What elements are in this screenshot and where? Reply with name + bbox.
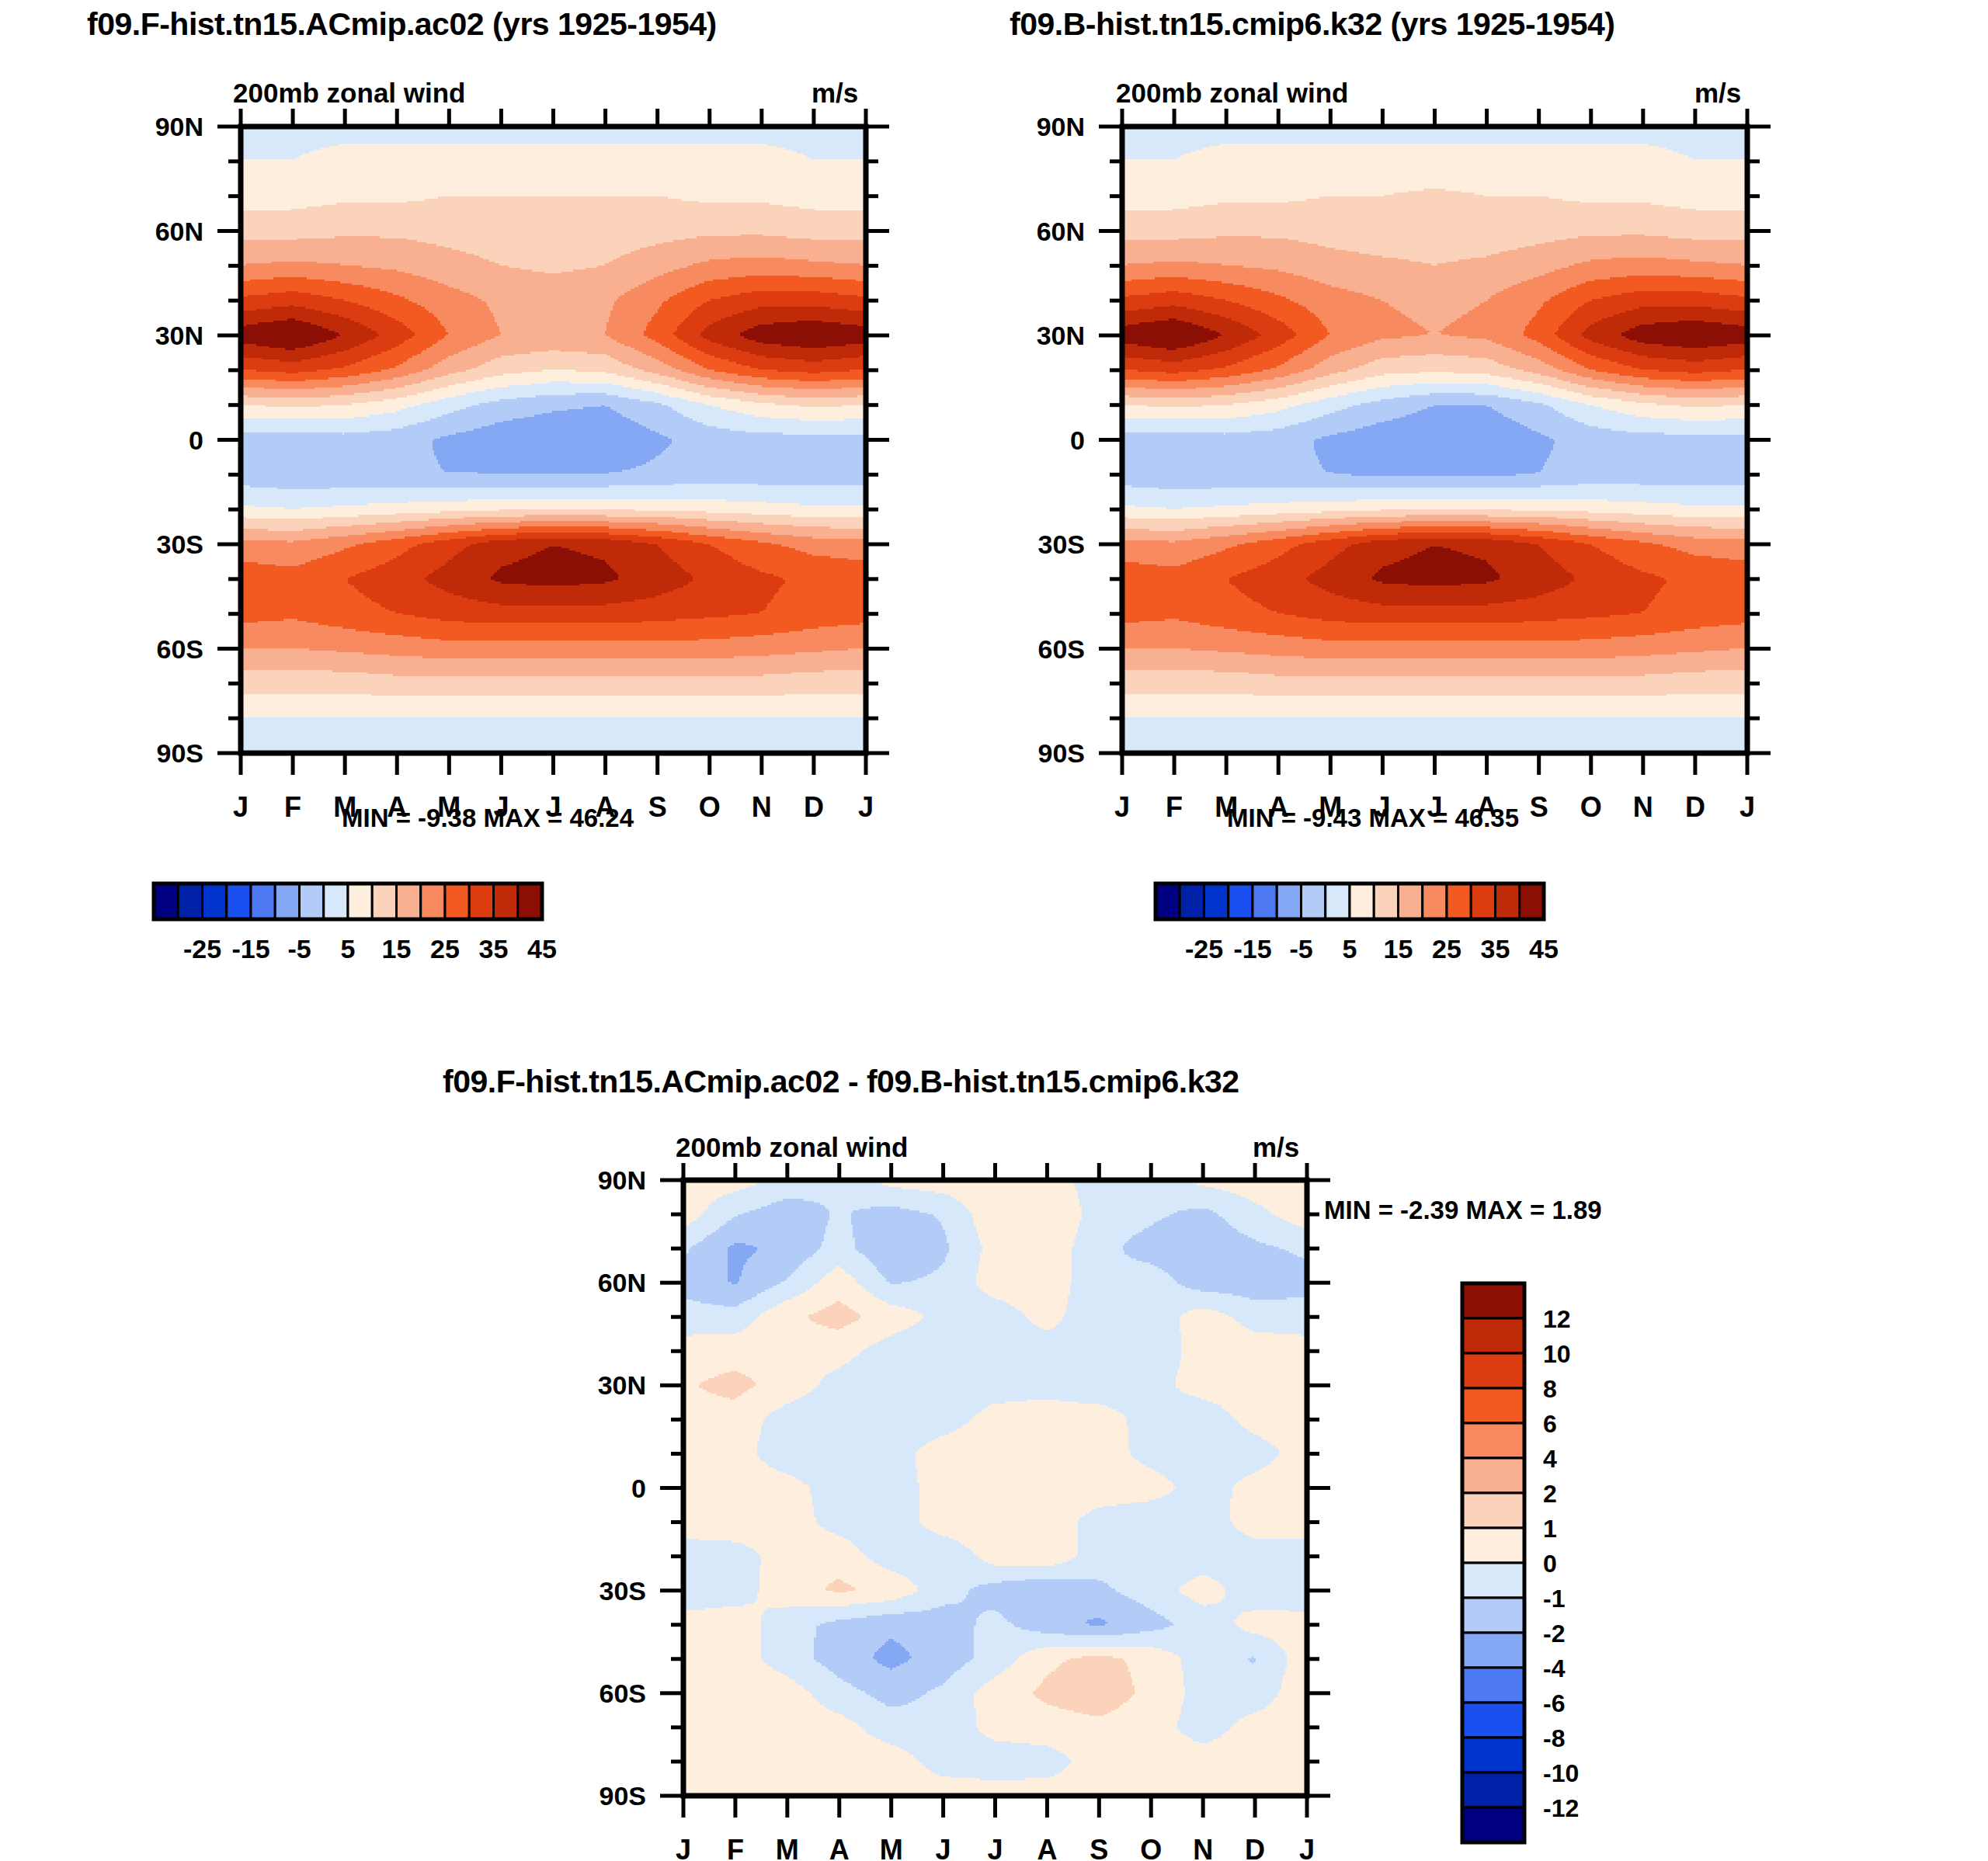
y-axis-label: 30N [155,321,203,350]
colorbar-cell[interactable] [1462,1563,1524,1598]
colorbar-tick-label: -2 [1543,1620,1565,1647]
colorbar-cell[interactable] [154,884,178,919]
y-axis-label: 30S [600,1576,647,1606]
colorbar-tick-label: 1 [1543,1515,1557,1543]
panel-right-plot: 90N60N30N030S60S90SJFMAMJJASONDJ [881,109,1782,885]
x-axis-label: J [858,791,874,823]
colorbar-cell[interactable] [1374,884,1398,919]
colorbar-tick-label: 8 [1543,1375,1557,1403]
x-axis-label: D [1685,791,1705,823]
colorbar-tick-label: 15 [382,934,412,963]
colorbar-cell[interactable] [518,884,542,919]
x-axis-label: J [1114,791,1130,823]
colorbar-cell[interactable] [300,884,324,919]
colorbar-cell[interactable] [397,884,421,919]
colorbar-cell[interactable] [1520,884,1544,919]
x-axis-label: A [1037,1834,1057,1861]
colorbar-cell[interactable] [203,884,227,919]
y-axis-label: 30S [1038,529,1086,559]
x-axis-label: O [1580,791,1602,823]
colorbar-cell[interactable] [1462,1423,1524,1458]
colorbar-cell[interactable] [1462,1388,1524,1423]
colorbar-cell[interactable] [494,884,518,919]
colorbar-cell[interactable] [227,884,251,919]
colorbar-cell[interactable] [1462,1493,1524,1528]
panel-difference-minmax: MIN = -2.39 MAX = 1.89 [1324,1196,1602,1225]
colorbar-cell[interactable] [1447,884,1471,919]
y-axis-label: 30N [1037,321,1085,350]
y-axis-label: 60S [1038,634,1086,664]
colorbar-tick-label: -8 [1543,1724,1565,1752]
colorbar-tick-label: -10 [1543,1759,1579,1787]
colorbar-cell[interactable] [178,884,202,919]
colorbar-cell[interactable] [445,884,469,919]
colorbar-cell[interactable] [324,884,348,919]
colorbar-cell[interactable] [1350,884,1374,919]
colorbar-cell[interactable] [1302,884,1326,919]
colorbar-cell[interactable] [1462,1598,1524,1633]
colorbar-tick-label: 4 [1543,1445,1557,1473]
x-axis-label: J [987,1834,1003,1861]
colorbar-cell[interactable] [1471,884,1495,919]
colorbar-cell[interactable] [421,884,445,919]
x-axis-label: S [1090,1834,1108,1861]
colorbar-cell[interactable] [1462,1528,1524,1563]
panel-difference-title: f09.F-hist.tn15.ACmip.ac02 - f09.B-hist.… [443,1064,1239,1100]
colorbar-cell[interactable] [1253,884,1277,919]
panel-left-plot: 90N60N30N030S60S90SJFMAMJJASONDJ [0,109,901,885]
x-axis-label: N [752,791,772,823]
colorbar-cell[interactable] [251,884,275,919]
x-axis-label: O [1140,1834,1162,1861]
colorbar-tick-label: 6 [1543,1410,1557,1438]
y-axis-label: 30N [598,1370,646,1400]
colorbar-cell[interactable] [1462,1283,1524,1318]
y-axis-label: 90N [155,112,203,141]
y-axis-label: 90S [1038,738,1086,768]
colorbar-cell[interactable] [1326,884,1350,919]
colorbar-tick-label: 12 [1543,1305,1571,1333]
x-axis-label: M [776,1834,799,1861]
colorbar-tick-label: -1 [1543,1585,1565,1613]
colorbar-tick-label: -5 [287,934,311,963]
colorbar-cell[interactable] [1462,1703,1524,1738]
y-axis-label: 60S [157,634,204,664]
colorbar-cell[interactable] [1156,884,1180,919]
colorbar-cell[interactable] [372,884,396,919]
x-axis-label: N [1193,1834,1213,1861]
panel-left-units: m/s [812,78,858,109]
panel-left-title: f09.F-hist.tn15.ACmip.ac02 (yrs 1925-195… [87,6,717,43]
panel-left-colorbar[interactable]: -25-15-5515253545 [116,877,893,978]
y-axis-label: 90N [598,1165,646,1195]
colorbar-tick-label: 2 [1543,1480,1557,1508]
colorbar-tick-label: 5 [341,934,356,963]
colorbar-cell[interactable] [1462,1458,1524,1493]
panel-right-subtitle: 200mb zonal wind [1116,78,1349,109]
x-axis-label: J [1299,1834,1315,1861]
y-axis-label: 60S [600,1679,647,1708]
colorbar-cell[interactable] [275,884,299,919]
colorbar-tick-label: -12 [1543,1794,1579,1822]
x-axis-label: O [699,791,721,823]
colorbar-cell[interactable] [1462,1772,1524,1807]
colorbar-tick-label: 35 [1481,934,1510,963]
x-axis-label: F [727,1834,744,1861]
colorbar-tick-label: 10 [1543,1340,1571,1368]
panel-right-title: f09.B-hist.tn15.cmip6.k32 (yrs 1925-1954… [1010,6,1614,43]
panel-right-minmax: MIN = -9.43 MAX = 46.35 [1227,804,1519,833]
x-axis-label: D [804,791,824,823]
colorbar-cell[interactable] [1462,1318,1524,1353]
colorbar-cell[interactable] [1229,884,1253,919]
colorbar-tick-label: 25 [430,934,460,963]
x-axis-label: M [880,1834,903,1861]
colorbar-tick-label: -15 [231,934,269,963]
panel-left-subtitle: 200mb zonal wind [233,78,466,109]
colorbar-cell[interactable] [1462,1807,1524,1842]
colorbar-tick-label: 45 [1529,934,1559,963]
colorbar-cell[interactable] [1180,884,1204,919]
colorbar-tick-label: -6 [1543,1689,1565,1717]
y-axis-label: 60N [598,1268,646,1297]
colorbar-cell[interactable] [1277,884,1301,919]
y-axis-label: 0 [189,425,203,455]
x-axis-label: S [1530,791,1548,823]
x-axis-label: J [676,1834,691,1861]
colorbar-tick-label: 5 [1343,934,1357,963]
panel-left-minmax: MIN = -9.38 MAX = 46.24 [342,804,634,833]
x-axis-label: A [829,1834,850,1861]
x-axis-label: J [233,791,248,823]
colorbar-tick-label: -25 [1185,934,1223,963]
colorbar-cell[interactable] [1462,1353,1524,1388]
colorbar-cell[interactable] [1204,884,1229,919]
panel-difference-subtitle: 200mb zonal wind [676,1132,909,1163]
panel-difference-plot: 90N60N30N030S60S90SJFMAMJJASONDJ [443,1163,1351,1861]
colorbar-tick-label: -15 [1233,934,1271,963]
colorbar-cell[interactable] [469,884,493,919]
colorbar-cell[interactable] [1496,884,1520,919]
colorbar-tick-label: 35 [479,934,509,963]
colorbar-tick-label: -5 [1289,934,1312,963]
panel-right-colorbar[interactable]: -25-15-5515253545 [1118,877,1895,978]
y-axis-label: 60N [155,217,203,246]
colorbar-cell[interactable] [1399,884,1423,919]
y-axis-label: 0 [1070,425,1085,455]
colorbar-cell[interactable] [1462,1668,1524,1703]
x-axis-label: N [1633,791,1653,823]
y-axis-label: 60N [1037,217,1085,246]
y-axis-label: 90N [1037,112,1085,141]
x-axis-label: J [936,1834,951,1861]
colorbar-tick-label: -25 [183,934,221,963]
colorbar-cell[interactable] [1462,1633,1524,1668]
x-axis-label: F [284,791,301,823]
panel-right-units: m/s [1694,78,1741,109]
y-axis-label: 90S [157,738,204,768]
colorbar-tick-label: -4 [1543,1654,1566,1682]
colorbar-tick-label: 25 [1432,934,1461,963]
x-axis-label: J [1739,791,1755,823]
colorbar-tick-label: 45 [527,934,557,963]
panel-difference-colorbar[interactable]: 1210864210-1-2-4-6-8-10-12 [1456,1277,1782,1861]
y-axis-label: 0 [631,1474,646,1503]
x-axis-label: F [1166,791,1183,823]
x-axis-label: D [1245,1834,1265,1861]
colorbar-cell[interactable] [348,884,372,919]
panel-difference-units: m/s [1253,1132,1299,1163]
colorbar-tick-label: 0 [1543,1550,1557,1578]
y-axis-label: 90S [600,1781,647,1811]
colorbar-cell[interactable] [1462,1738,1524,1772]
colorbar-cell[interactable] [1423,884,1447,919]
x-axis-label: S [648,791,667,823]
colorbar-tick-label: 15 [1384,934,1413,963]
y-axis-label: 30S [157,529,204,559]
